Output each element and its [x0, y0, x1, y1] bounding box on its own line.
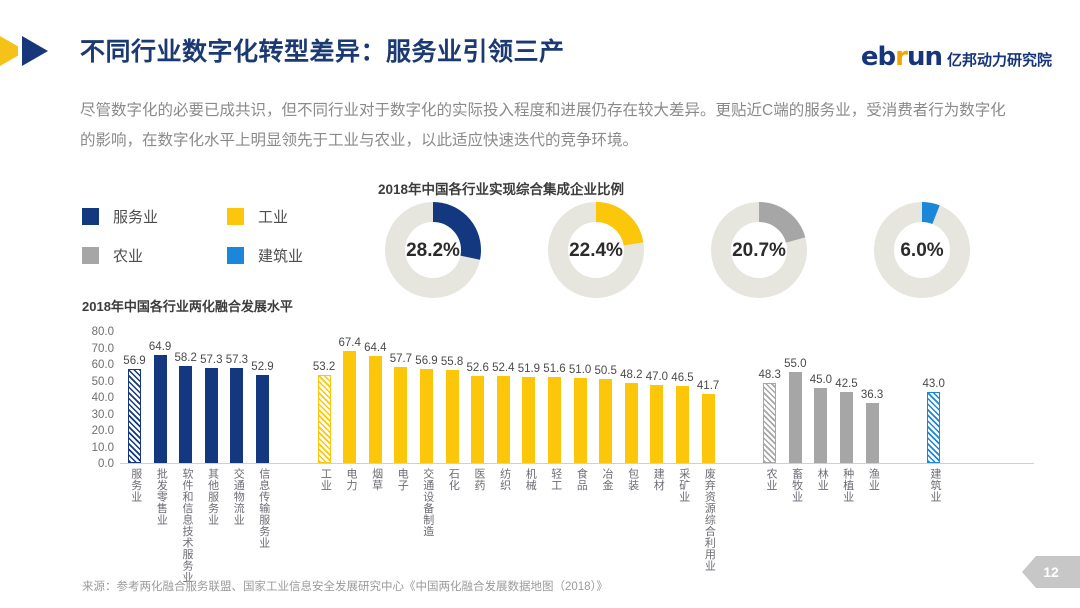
x-axis-label: 电力: [344, 468, 356, 491]
donut-chart-3: 20.7%: [704, 198, 814, 303]
x-axis-label: 采矿业: [677, 468, 689, 503]
bar-fill: [343, 351, 356, 462]
bar-value-label: 52.4: [492, 362, 514, 374]
x-axis-labels: 服务业批发零售业软件和信息技术服务业其他服务业交通物流业信息传输服务业工业电力烟…: [120, 468, 1040, 578]
bar: 48.2: [625, 383, 638, 463]
bar-value-label: 55.8: [441, 356, 463, 368]
bar-value-label: 57.3: [226, 354, 248, 366]
bar: 57.7: [394, 367, 407, 462]
donut-value-label: 22.4%: [541, 198, 651, 303]
x-axis-label: 软件和信息技术服务业: [180, 468, 192, 583]
slide: 不同行业数字化转型差异：服务业引领三产 ebrun 亿邦动力研究院 尽管数字化的…: [0, 0, 1080, 608]
bar: 52.4: [497, 376, 510, 462]
legend-item-agriculture: 农业: [82, 245, 227, 266]
x-axis-label: 机械: [523, 468, 535, 491]
bar-value-label: 57.3: [200, 354, 222, 366]
donut-chart-2: 22.4%: [541, 198, 651, 303]
bar: 55.8: [446, 370, 459, 462]
x-axis-label: 其他服务业: [206, 468, 218, 526]
bar-value-label: 48.3: [758, 369, 780, 381]
brand-chinese-name: 亿邦动力研究院: [947, 49, 1052, 70]
x-axis-label: 交通设备制造: [421, 468, 433, 537]
x-axis-label: 废弃资源综合利用业: [703, 468, 715, 572]
x-axis-label: 信息传输服务业: [257, 468, 269, 549]
bar-fill: [676, 386, 689, 463]
bar: 57.3: [205, 368, 218, 463]
bar: 50.5: [599, 379, 612, 462]
bar-value-label: 58.2: [174, 352, 196, 364]
bar-fill: [420, 369, 433, 463]
bar-fill: [522, 377, 535, 463]
donut-value-label: 20.7%: [704, 198, 814, 303]
bar-chart-title: 2018年中国各行业两化融合发展水平: [82, 296, 293, 315]
bar: 43.0: [927, 392, 940, 463]
bar: 53.2: [318, 375, 331, 463]
bar-value-label: 43.0: [922, 378, 944, 390]
y-axis-tick: 40.0: [92, 392, 114, 404]
bar: 36.3: [866, 403, 879, 463]
bar: 52.6: [471, 376, 484, 463]
bar-value-label: 53.2: [313, 361, 335, 373]
slide-header: 不同行业数字化转型差异：服务业引领三产 ebrun 亿邦动力研究院: [0, 0, 1080, 84]
x-axis-label: 建材: [651, 468, 663, 491]
bar: 52.9: [256, 375, 269, 462]
bar-value-label: 57.7: [390, 353, 412, 365]
bar: 57.3: [230, 368, 243, 463]
bar-value-label: 41.7: [697, 380, 719, 392]
legend-item-construction: 建筑业: [227, 245, 372, 266]
donut-section-title: 2018年中国各行业实现综合集成企业比例: [378, 178, 624, 198]
legend-row: 服务业 工业: [82, 206, 392, 227]
bar-value-label: 52.6: [466, 362, 488, 374]
x-axis-baseline: [120, 463, 1034, 465]
x-axis-label: 建筑业: [928, 468, 940, 503]
chart-legend: 服务业 工业 农业 建筑业: [82, 206, 392, 284]
x-axis-label: 冶金: [600, 468, 612, 491]
source-note: 来源：参考两化融合服务联盟、国家工业信息安全发展研究中心《中国两化融合发展数据地…: [82, 578, 608, 594]
x-axis-label: 批发零售业: [155, 468, 167, 526]
bar: 51.9: [522, 377, 535, 463]
legend-label-construction: 建筑业: [258, 245, 303, 266]
bar-fill: [497, 376, 510, 462]
x-axis-label: 畜牧业: [790, 468, 802, 503]
bar-value-label: 64.4: [364, 342, 386, 354]
legend-item-industry: 工业: [227, 206, 372, 227]
bar-fill: [318, 375, 331, 463]
bar-value-label: 50.5: [594, 365, 616, 377]
y-axis-tick: 60.0: [92, 359, 114, 371]
bar: 55.0: [789, 372, 802, 463]
y-axis-tick: 80.0: [92, 326, 114, 338]
legend-swatch-agriculture: [82, 247, 99, 264]
bar: 51.6: [548, 377, 561, 462]
y-axis-tick: 20.0: [92, 425, 114, 437]
bar: 56.9: [420, 369, 433, 463]
page-title: 不同行业数字化转型差异：服务业引领三产: [80, 32, 565, 68]
x-axis-label: 渔业: [867, 468, 879, 491]
x-axis-label: 轻工: [549, 468, 561, 491]
bar-value-label: 51.0: [569, 364, 591, 376]
legend-label-services: 服务业: [113, 206, 158, 227]
bar-value-label: 48.2: [620, 369, 642, 381]
brand-latin: ebrun: [861, 42, 942, 72]
bar: 51.0: [574, 378, 587, 462]
x-axis-label: 医药: [472, 468, 484, 491]
bar: 64.4: [369, 356, 382, 462]
bar-value-label: 42.5: [835, 378, 857, 390]
donut-chart-group: 28.2%22.4%20.7%6.0%: [378, 198, 988, 303]
bar-fill: [548, 377, 561, 462]
x-axis-label: 交通物流业: [231, 468, 243, 526]
y-axis: 0.010.020.030.040.050.060.070.080.0: [74, 314, 118, 464]
bar-value-label: 51.6: [543, 363, 565, 375]
bar-fill: [205, 368, 218, 463]
x-axis-label: 石化: [447, 468, 459, 491]
bar: 56.9: [128, 369, 141, 463]
bar-value-label: 56.9: [415, 355, 437, 367]
bar-value-label: 67.4: [338, 337, 360, 349]
bar-value-label: 51.9: [518, 363, 540, 375]
bar-fill: [625, 383, 638, 463]
double-chevron-logo-icon: [0, 33, 70, 69]
y-axis-tick: 10.0: [92, 442, 114, 454]
bar-fill: [840, 392, 853, 462]
y-axis-tick: 70.0: [92, 343, 114, 355]
bar-plot-area: 56.964.958.257.357.352.953.267.464.457.7…: [120, 314, 1034, 464]
bar-value-label: 64.9: [149, 341, 171, 353]
x-axis-label: 林业: [815, 468, 827, 491]
bar-fill: [814, 388, 827, 462]
bar-fill: [763, 383, 776, 463]
donut-chart-1: 28.2%: [378, 198, 488, 303]
legend-swatch-construction: [227, 247, 244, 264]
bar-value-label: 52.9: [251, 361, 273, 373]
x-axis-label: 烟草: [370, 468, 382, 491]
bar-fill: [179, 366, 192, 462]
legend-swatch-industry: [227, 208, 244, 225]
bar-fill: [446, 370, 459, 462]
bar: 45.0: [814, 388, 827, 462]
x-axis-label: 服务业: [129, 468, 141, 503]
x-axis-label: 工业: [319, 468, 331, 491]
bar: 48.3: [763, 383, 776, 463]
bar-value-label: 45.0: [810, 374, 832, 386]
bar-value-label: 46.5: [671, 372, 693, 384]
y-axis-tick: 0.0: [98, 458, 114, 470]
bar-fill: [154, 355, 167, 462]
legend-swatch-services: [82, 208, 99, 225]
legend-item-services: 服务业: [82, 206, 227, 227]
bar: 67.4: [343, 351, 356, 462]
x-axis-label: 纺织: [498, 468, 510, 491]
bar-fill: [927, 392, 940, 463]
bar-fill: [702, 394, 715, 463]
x-axis-label: 电子: [395, 468, 407, 491]
legend-label-agriculture: 农业: [113, 245, 143, 266]
bar-fill: [789, 372, 802, 463]
intro-paragraph: 尽管数字化的必要已成共识，但不同行业对于数字化的实际投入程度和进展仍存在较大差异…: [80, 96, 1020, 156]
bar: 42.5: [840, 392, 853, 462]
x-axis-label: 农业: [764, 468, 776, 491]
bar-value-label: 47.0: [646, 371, 668, 383]
bar-fill: [471, 376, 484, 463]
bar: 64.9: [154, 355, 167, 462]
legend-row: 农业 建筑业: [82, 245, 392, 266]
donut-value-label: 28.2%: [378, 198, 488, 303]
bar-fill: [599, 379, 612, 462]
bar-fill: [650, 385, 663, 463]
bar-fill: [866, 403, 879, 463]
bar: 46.5: [676, 386, 689, 463]
y-axis-tick: 30.0: [92, 409, 114, 421]
bar: 41.7: [702, 394, 715, 463]
bar-value-label: 36.3: [861, 389, 883, 401]
brand-logo: ebrun 亿邦动力研究院: [861, 42, 1052, 72]
x-axis-label: 包装: [626, 468, 638, 491]
bar-chart: 0.010.020.030.040.050.060.070.080.0 56.9…: [74, 314, 1034, 464]
bar-fill: [256, 375, 269, 462]
legend-label-industry: 工业: [258, 206, 288, 227]
bar: 58.2: [179, 366, 192, 462]
bar-fill: [369, 356, 382, 462]
bar-value-label: 55.0: [784, 358, 806, 370]
y-axis-tick: 50.0: [92, 376, 114, 388]
x-axis-label: 食品: [575, 468, 587, 491]
bar: 47.0: [650, 385, 663, 463]
donut-value-label: 6.0%: [867, 198, 977, 303]
bar-fill: [574, 378, 587, 462]
donut-chart-4: 6.0%: [867, 198, 977, 303]
bar-fill: [230, 368, 243, 463]
x-axis-label: 种植业: [841, 468, 853, 503]
bar-fill: [128, 369, 141, 463]
bar-value-label: 56.9: [123, 355, 145, 367]
bar-fill: [394, 367, 407, 462]
